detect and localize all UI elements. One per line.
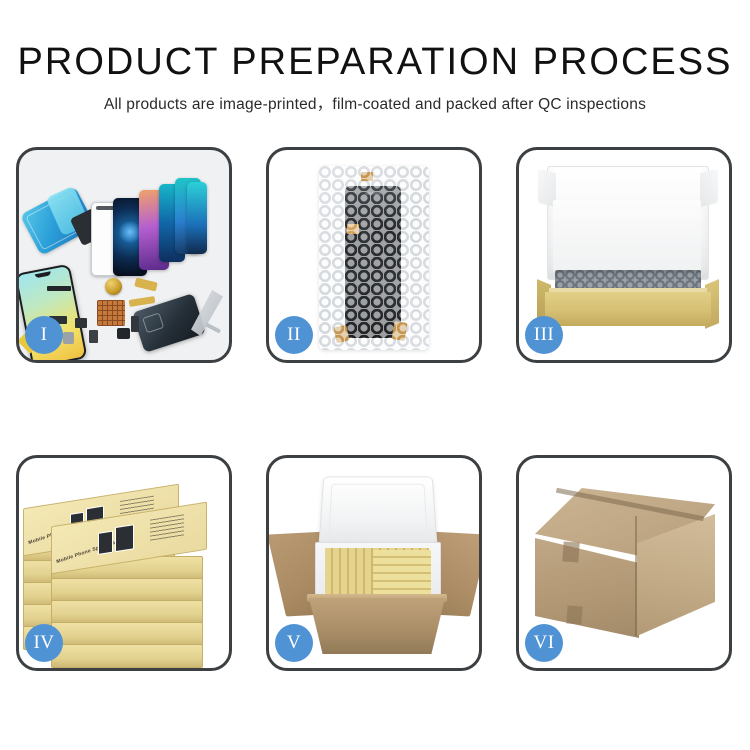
carton-front-icon xyxy=(309,598,445,654)
step-badge-6: VI xyxy=(525,624,563,662)
packed-boxes-stack-icon xyxy=(373,550,431,594)
stacked-box-f3 xyxy=(51,600,203,624)
process-step-card-1[interactable]: I xyxy=(16,147,232,363)
process-step-card-5[interactable]: V xyxy=(266,455,482,671)
foam-sheet-icon xyxy=(553,200,701,272)
bubble-wrap-overlay xyxy=(319,166,429,350)
stacked-box-f5 xyxy=(51,644,203,668)
process-step-card-4[interactable]: Mobile Phone Spare Parts Mobile Phone Sp… xyxy=(16,455,232,671)
step-badge-1: I xyxy=(25,316,63,354)
stacked-box-f2 xyxy=(51,578,203,602)
phone-fan-group xyxy=(91,176,201,276)
process-step-card-2[interactable]: II xyxy=(266,147,482,363)
flex-cable-part-icon xyxy=(134,277,158,291)
process-step-card-6[interactable]: VI xyxy=(516,455,732,671)
page-subtitle: All products are image-printed，film-coat… xyxy=(0,92,750,114)
step-badge-4: IV xyxy=(25,624,63,662)
repair-probe-icon xyxy=(205,322,221,333)
chip-part-e-icon xyxy=(131,316,139,332)
box-window-front-1 xyxy=(98,531,113,555)
stacked-box-f4 xyxy=(51,622,203,646)
carton-vertical-edge xyxy=(635,516,637,636)
carton-front-face xyxy=(535,538,639,638)
foam-liner-lid-icon xyxy=(318,477,437,547)
antenna-bar-part-icon xyxy=(47,286,71,291)
phone-screen-gradient-icon xyxy=(187,182,207,254)
carton-tape-upper-icon xyxy=(562,541,579,562)
chip-part-c-icon xyxy=(117,328,130,339)
step-badge-2: II xyxy=(275,316,313,354)
carton-tape-lower-icon xyxy=(566,605,582,624)
box-window-front-2 xyxy=(115,524,134,552)
chip-part-a-icon xyxy=(75,318,87,328)
inner-box-front-icon xyxy=(545,292,711,326)
process-step-grid: I II III xyxy=(16,147,734,671)
vibration-motor-icon xyxy=(105,278,122,295)
step-badge-3: III xyxy=(525,316,563,354)
step-badge-5: V xyxy=(275,624,313,662)
box-spec-lines-front xyxy=(150,514,184,541)
chip-part-d-icon xyxy=(63,332,74,344)
chip-part-b-icon xyxy=(89,330,98,343)
page-title: PRODUCT PREPARATION PROCESS xyxy=(0,40,750,84)
copper-mesh-part-icon xyxy=(97,300,125,326)
page-header: PRODUCT PREPARATION PROCESS All products… xyxy=(0,0,750,114)
process-step-card-3[interactable]: III xyxy=(516,147,732,363)
